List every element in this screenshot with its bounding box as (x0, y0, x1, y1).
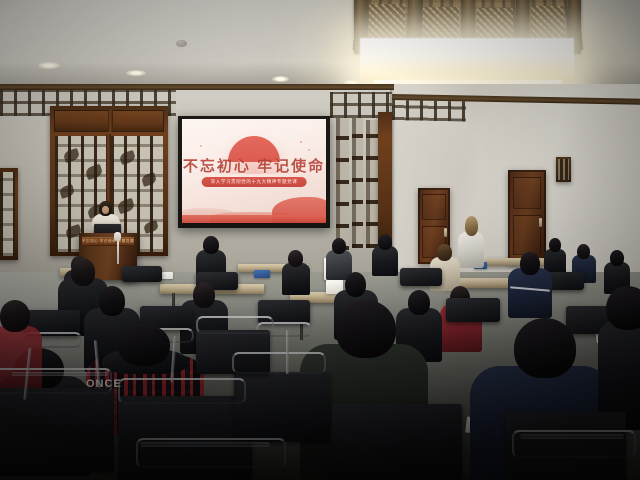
chair-mid-4[interactable] (446, 298, 500, 322)
attendee-head (437, 244, 452, 261)
podium-microphone-stand (117, 238, 119, 264)
attendee-head (336, 300, 396, 358)
attendee-head (378, 234, 392, 250)
chair-front-1[interactable] (0, 388, 114, 472)
chair-rail-front-3[interactable] (232, 352, 326, 374)
projector-screen[interactable]: 不忘初心 牢记使命 深入学习贯彻党的十九大精神专题党课 (182, 119, 326, 223)
attendee-head (549, 238, 561, 252)
slide-mountains (182, 189, 326, 223)
attendee-head (71, 258, 95, 286)
podium-microphone (114, 232, 121, 241)
lattice-transom-mullion (108, 110, 113, 132)
chair-front-3[interactable] (234, 372, 330, 442)
attendee-head (577, 244, 590, 259)
attendee-head (514, 318, 576, 378)
door-right-near (508, 170, 546, 264)
desk-folder-blue-1 (254, 270, 270, 278)
attendee-head (520, 252, 540, 275)
slide-sparkle-3 (200, 145, 202, 147)
lattice-frieze-right (392, 100, 466, 122)
slide-sparkle-1 (300, 141, 302, 143)
door-panel-bottom-2 (513, 215, 541, 255)
smoke-detector (176, 40, 187, 47)
attendee-head (610, 250, 624, 266)
wood-pillar (378, 112, 392, 254)
lattice-window-a (336, 118, 349, 250)
ceiling-lamp (352, 0, 584, 94)
chair-back-3[interactable] (400, 268, 442, 286)
slide-sparkle-2 (308, 149, 310, 151)
chair-front-5[interactable] (332, 404, 462, 480)
door-handle-2[interactable] (539, 218, 542, 227)
chair-chrome-highlight-2 (140, 442, 270, 447)
podium-banner: 不忘初心 牢记使命 专题党课 (82, 237, 134, 246)
attendee-head (408, 290, 430, 315)
desk-back-right (486, 258, 552, 266)
chair-rail-front-4[interactable] (196, 316, 274, 334)
attendee-head (203, 236, 219, 254)
attendee-head (332, 238, 346, 254)
slide-subtitle: 深入学习贯彻党的十九大精神专题党课 (202, 177, 307, 187)
podium-banner-text: 不忘初心 牢记使命 专题党课 (82, 239, 134, 244)
conference-hall-photo: 不忘初心 牢记使命 深入学习贯彻党的十九大精神专题党课 (0, 0, 640, 480)
attendee-torso (372, 246, 398, 276)
slide-ground-band (182, 215, 326, 223)
standing-person-head (465, 216, 478, 236)
lattice-window-c (366, 120, 378, 248)
plaque-inner (558, 159, 569, 180)
attendee-torso (282, 263, 310, 295)
chair-chrome-highlight-1 (12, 372, 108, 376)
chair-leg-4 (286, 330, 289, 374)
slide-title: 不忘初心 牢记使命 (182, 155, 326, 176)
downlight-2 (126, 70, 146, 76)
attendee-head (345, 272, 366, 297)
attendee-head (0, 300, 30, 332)
framed-wall-plaque (556, 157, 571, 182)
lattice-inner-far-left (0, 172, 15, 256)
attendee-head (193, 282, 215, 308)
lamp-panel-1 (369, 4, 405, 42)
presentation-slide: 不忘初心 牢记使命 深入学习贯彻党的十九大精神专题党课 (182, 119, 326, 223)
standing-person-torso (458, 232, 484, 268)
attendee-head (99, 286, 125, 316)
door-panel-top-2 (513, 177, 541, 209)
downlight-3 (272, 76, 289, 82)
attendee-head (606, 286, 640, 330)
chair-rail-front-2[interactable] (118, 378, 246, 404)
door-handle[interactable] (444, 228, 447, 237)
lattice-window-b (352, 118, 363, 248)
attendee-torso (508, 268, 552, 318)
door-panel-top (422, 194, 446, 220)
chair-back-1[interactable] (122, 266, 162, 282)
downlight-1 (38, 62, 60, 69)
attendee-head (118, 324, 170, 366)
attendee-head (288, 250, 303, 267)
speaker-face (102, 206, 109, 214)
lamp-diffuser (360, 38, 574, 82)
chair-chrome-highlight-3 (520, 434, 624, 439)
